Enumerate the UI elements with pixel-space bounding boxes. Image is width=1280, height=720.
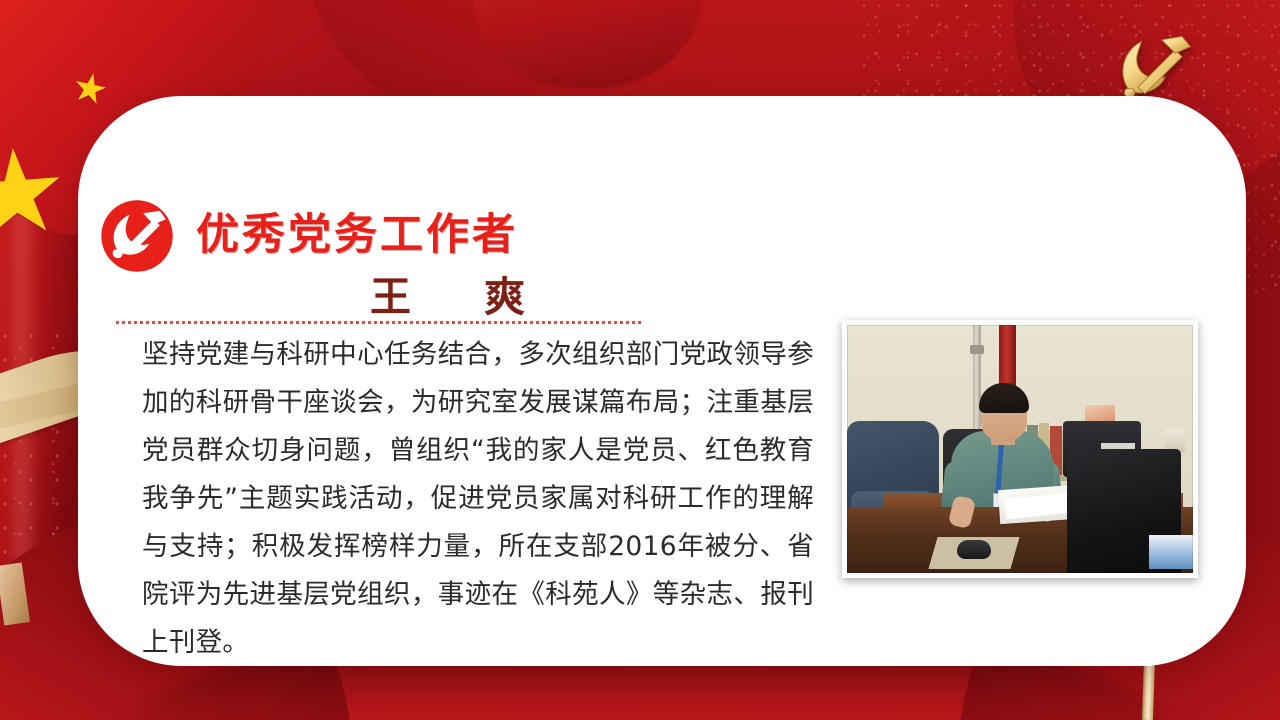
person-at-desk-photo: [847, 325, 1193, 573]
flag-star-large: ★: [0, 131, 72, 234]
slide-canvas: ★ ★ ★ ★ ★: [0, 0, 1280, 720]
photo-inner-border: [847, 325, 1193, 573]
hammer-sickle-badge-icon: [99, 198, 175, 274]
body-paragraph: 坚持党建与科研中心任务结合，多次组织部门党政领导参加的科研骨干座谈会，为研究室发…: [142, 331, 814, 667]
gold-hammer-sickle-icon: [1112, 28, 1198, 104]
dotted-divider: [116, 321, 642, 324]
person-photo-frame: [842, 320, 1198, 578]
person-name: 王 爽: [370, 263, 541, 323]
page-title: 优秀党务工作者: [196, 200, 518, 262]
